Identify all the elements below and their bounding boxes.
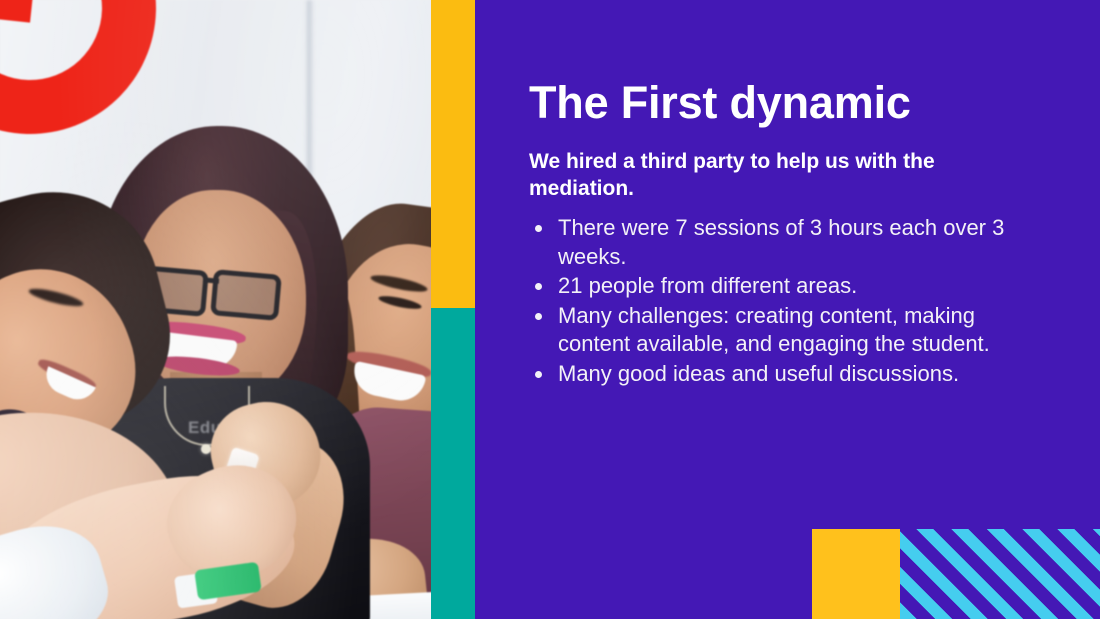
bullet-item: There were 7 sessions of 3 hours each ov… [529, 214, 1031, 271]
accent-bar-yellow [431, 0, 475, 308]
bullet-item: Many good ideas and useful discussions. [529, 360, 1031, 389]
bullet-item: 21 people from different areas. [529, 272, 1031, 301]
decor-diagonal-stripes [900, 529, 1100, 619]
person-center-eyeglass-right-lens [210, 269, 282, 321]
photo-content: Edu [0, 0, 431, 619]
bullet-item: Many challenges: creating content, makin… [529, 302, 1031, 359]
slide-title: The First dynamic [529, 78, 1049, 128]
slide-bullet-list: There were 7 sessions of 3 hours each ov… [529, 214, 1031, 390]
photo-three-women-collaborating: Edu [0, 0, 431, 619]
decor-yellow-square [812, 529, 900, 619]
slide-subtitle: We hired a third party to help us with t… [529, 148, 987, 203]
accent-bar-teal [431, 308, 475, 619]
presentation-slide: Edu The First dy [0, 0, 1100, 619]
